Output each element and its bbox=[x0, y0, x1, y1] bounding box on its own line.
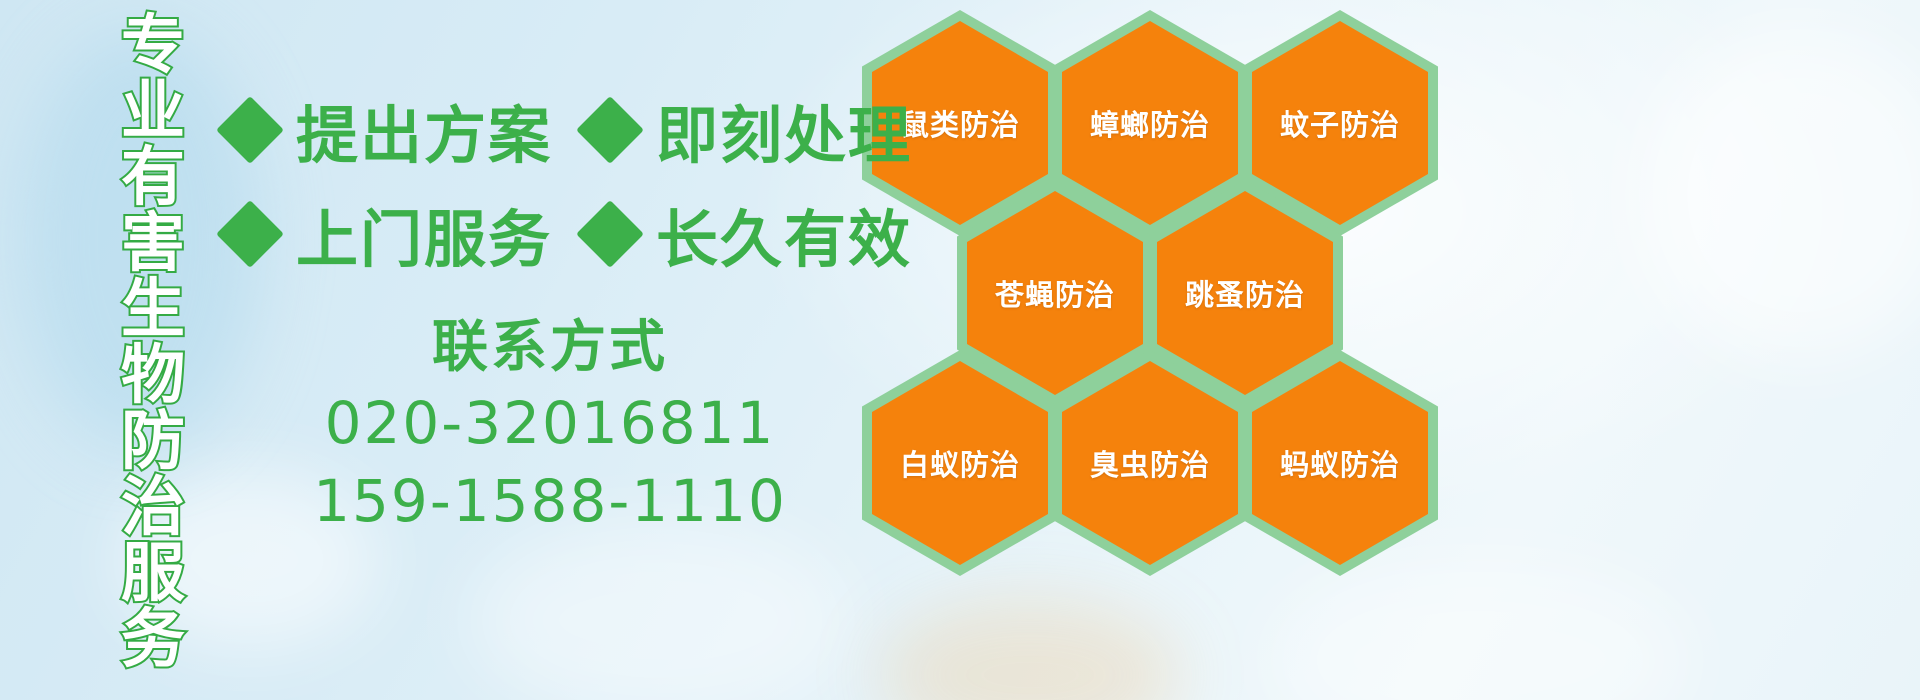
contact-title: 联系方式 bbox=[240, 312, 860, 384]
vertical-headline-char: 防 bbox=[121, 408, 185, 474]
service-hexagon-bedbug[interactable]: 臭虫防治 bbox=[1052, 350, 1248, 576]
vertical-headline-char: 有 bbox=[121, 144, 185, 210]
slogan-text: 上门服务 bbox=[296, 189, 552, 279]
service-hexagon-label: 蚂蚁防治 bbox=[1242, 350, 1438, 576]
background-glow bbox=[1270, 560, 1690, 700]
slogan-text: 提出方案 bbox=[296, 85, 552, 175]
slogan-row: 上门服务 长久有效 bbox=[226, 182, 912, 286]
diamond-icon bbox=[216, 96, 284, 164]
slogan-row: 提出方案 即刻处理 bbox=[226, 78, 912, 182]
contact-phone-mobile[interactable]: 159-1588-1110 bbox=[240, 462, 860, 540]
vertical-headline-char: 服 bbox=[121, 540, 185, 606]
service-hexagon-ant[interactable]: 蚂蚁防治 bbox=[1242, 350, 1438, 576]
slogan-list: 提出方案 即刻处理 上门服务 长久有效 bbox=[226, 78, 912, 286]
slogan-text: 即刻处理 bbox=[656, 85, 912, 175]
background-glow bbox=[470, 520, 850, 700]
contact-phone-landline[interactable]: 020-32016811 bbox=[240, 384, 860, 462]
service-hexagon-label: 臭虫防治 bbox=[1052, 350, 1248, 576]
diamond-icon bbox=[216, 200, 284, 268]
vertical-headline-char: 业 bbox=[121, 78, 185, 144]
slogan-text: 长久有效 bbox=[656, 189, 912, 279]
background-glow bbox=[1640, 30, 1920, 360]
service-honeycomb: 鼠类防治 蟑螂防治 蚊子防治 苍蝇防治 跳蚤防治 白蚁防治 bbox=[862, 2, 1462, 562]
vertical-headline-char: 务 bbox=[121, 606, 185, 672]
service-hexagon-termite[interactable]: 白蚁防治 bbox=[862, 350, 1058, 576]
vertical-headline-char: 治 bbox=[121, 474, 185, 540]
diamond-icon bbox=[576, 96, 644, 164]
contact-block: 联系方式 020-32016811 159-1588-1110 bbox=[240, 312, 860, 540]
vertical-headline-char: 物 bbox=[121, 342, 185, 408]
vertical-headline-char: 生 bbox=[121, 276, 185, 342]
vertical-headline-char: 害 bbox=[121, 210, 185, 276]
background-glow bbox=[880, 600, 1180, 700]
diamond-icon bbox=[576, 200, 644, 268]
vertical-headline-char: 专 bbox=[121, 12, 185, 78]
vertical-headline: 专 业 有 害 生 物 防 治 服 务 bbox=[105, 12, 201, 672]
service-hexagon-label: 白蚁防治 bbox=[862, 350, 1058, 576]
promo-banner: 专 业 有 害 生 物 防 治 服 务 提出方案 即刻处理 上门服务 长久有效 … bbox=[0, 0, 1920, 700]
